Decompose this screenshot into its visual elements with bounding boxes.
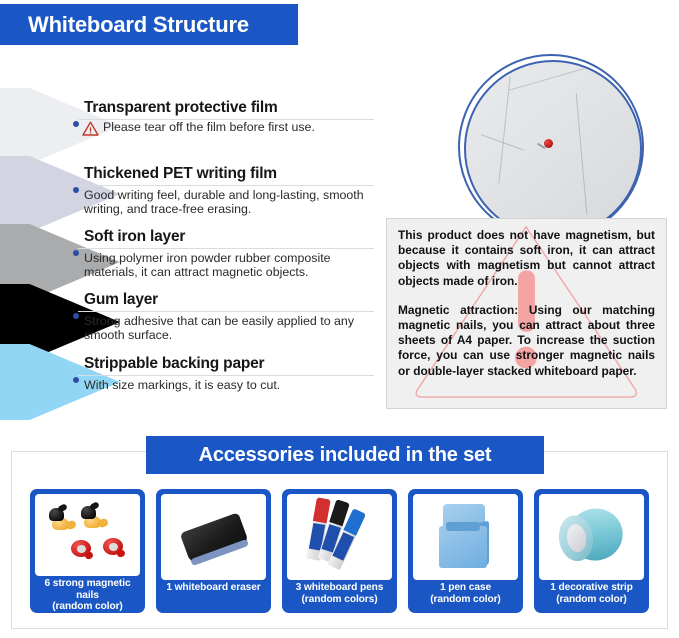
paper-crease [576,94,588,215]
accessory-card-whiteboard-eraser[interactable]: 1 whiteboard eraser [156,489,271,613]
magnetism-info-box: This product does not have magnetism, bu… [386,218,667,409]
accessory-caption: 6 strong magnetic nails (random color) [35,576,140,613]
accessories-banner-title: Accessories included in the set [199,444,492,467]
accessory-image [539,494,644,580]
accessory-image [287,494,392,580]
layer-description: Good writing feel, durable and long-last… [78,188,374,217]
layer-item-soft-iron-layer: Soft iron layer Using polymer iron powde… [78,227,374,280]
infographic-root: Whiteboard Structure Transparent protect… [0,0,679,638]
whiteboard-eraser-icon [179,512,248,561]
layer-description: Please tear off the film before first us… [103,120,315,134]
accessory-caption-line1: 6 strong magnetic nails [44,578,130,601]
accessory-caption-line2: (random color) [52,601,122,612]
info-paragraph-1: This product does not have magnetism, bu… [398,228,655,289]
page-title: Whiteboard Structure [28,12,249,38]
layer-item-thickened-pet-writing-film: Thickened PET writing film Good writing … [78,164,374,217]
layer-description: With size markings, it is easy to cut. [78,378,374,392]
whiteboard-photo-inner [464,60,642,238]
paper-crease [509,69,583,91]
layer-title: Soft iron layer [78,227,374,249]
magnetic-pin-icon [544,139,553,148]
paper-crease [499,76,511,183]
accessory-image [161,494,266,580]
accessory-caption-line1: 1 decorative strip [550,582,633,593]
decorative-strip-icon [555,505,628,570]
accessory-caption: 1 decorative strip (random color) [549,580,634,605]
layer-item-strippable-backing-paper: Strippable backing paper With size marki… [78,354,374,392]
layer-title: Thickened PET writing film [78,164,374,186]
accessory-caption-line2: (random color) [430,594,500,605]
layer-item-transparent-protective-film: Transparent protective film Please tear … [78,98,374,136]
layer-list: Transparent protective film Please tear … [78,98,374,395]
accessories-grid: 6 strong magnetic nails (random color) 1… [30,489,649,613]
accessories-banner: Accessories included in the set [146,436,544,474]
accessory-caption-line1: 3 whiteboard pens [296,582,384,593]
accessory-image [413,494,518,580]
pen-case-icon [437,504,495,570]
warning-triangle-icon [82,121,99,136]
accessory-card-pen-case[interactable]: 1 pen case (random color) [408,489,523,613]
accessory-caption-line1: 1 whiteboard eraser [166,582,260,593]
accessory-card-decorative-strip[interactable]: 1 decorative strip (random color) [534,489,649,613]
magnetic-nails-icon [35,494,140,576]
layer-description: Strong adhesive that can be easily appli… [78,314,374,343]
accessory-image [35,494,140,576]
accessory-card-whiteboard-pens[interactable]: 3 whiteboard pens (random colors) [282,489,397,613]
bullet-dot-icon [73,187,79,193]
layer-description: Using polymer iron powder rubber composi… [78,251,374,280]
whiteboard-photo [458,54,644,240]
whiteboard-pens-icon [301,497,378,576]
layer-item-gum-layer: Gum layer Strong adhesive that can be ea… [78,290,374,343]
layer-title: Gum layer [78,290,374,312]
accessory-card-magnetic-nails[interactable]: 6 strong magnetic nails (random color) [30,489,145,613]
layer-title: Transparent protective film [78,98,374,120]
info-paragraph-2: Magnetic attraction: Using our matching … [398,303,655,379]
accessory-caption-line2: (random colors) [301,594,377,605]
accessory-caption-line1: 1 pen case [440,582,491,593]
accessory-caption: 1 whiteboard eraser [165,580,261,594]
layer-title: Strippable backing paper [78,354,374,376]
header-banner: Whiteboard Structure [0,4,298,45]
bullet-dot-icon [73,250,79,256]
accessory-caption-line2: (random color) [556,594,626,605]
bullet-dot-icon [73,313,79,319]
accessory-caption: 1 pen case (random color) [429,580,501,605]
accessories-panel: 6 strong magnetic nails (random color) 1… [11,451,668,629]
accessory-caption: 3 whiteboard pens (random colors) [295,580,385,605]
bullet-dot-icon [73,121,79,127]
